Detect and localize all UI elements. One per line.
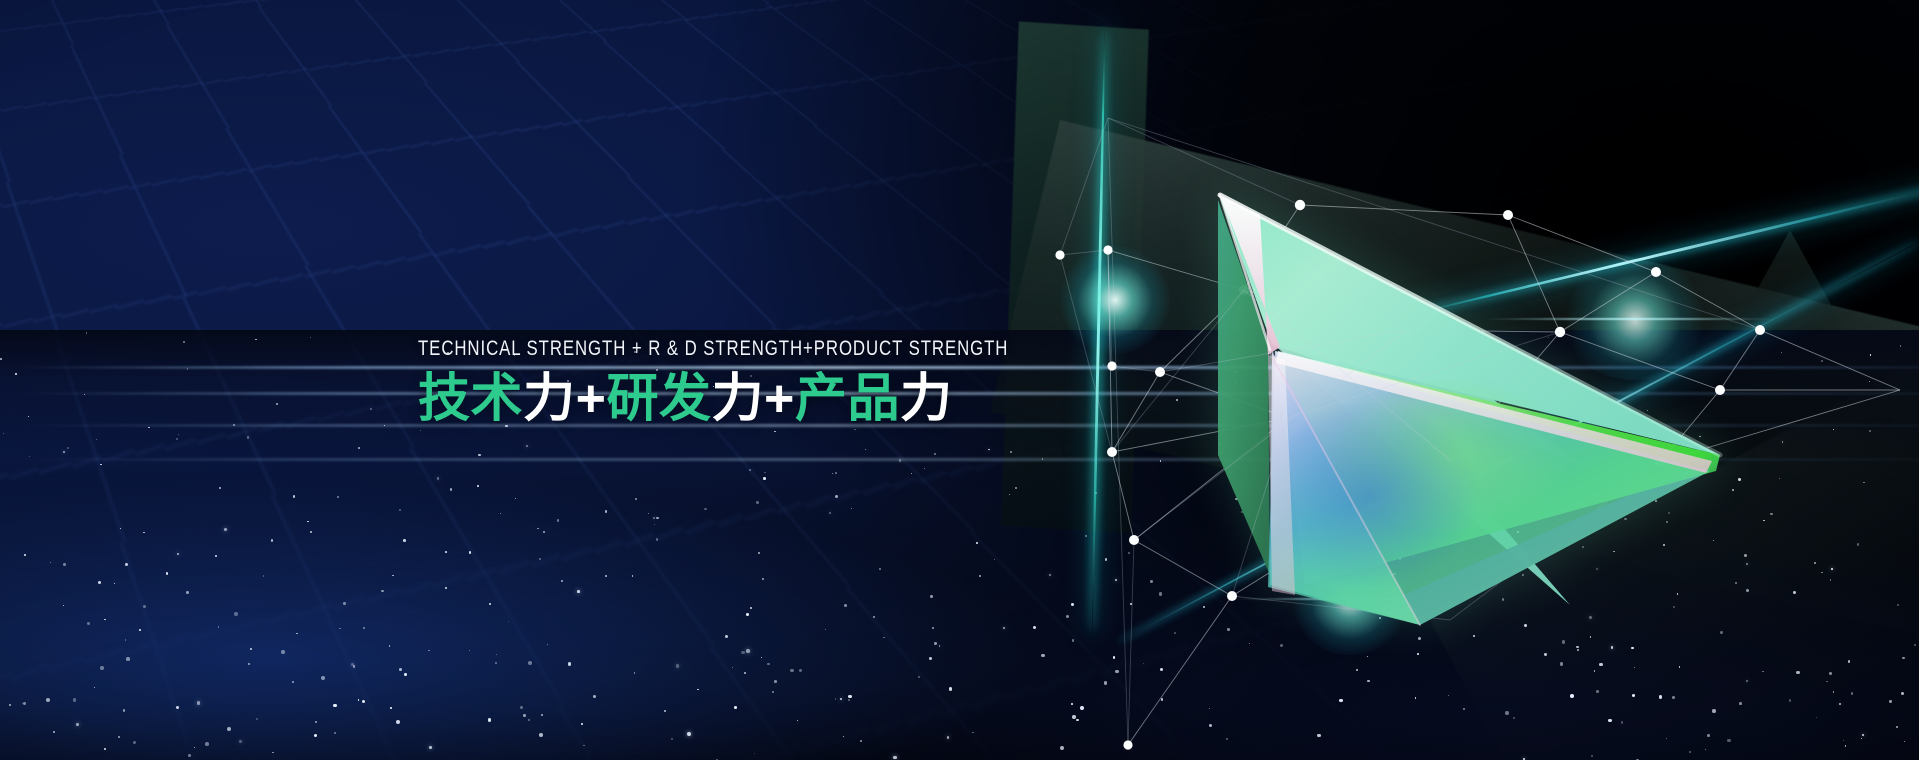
hero-banner: TECHNICAL STRENGTH + R & D STRENGTH+PROD… (0, 0, 1919, 760)
vignette-overlay (0, 0, 1919, 760)
